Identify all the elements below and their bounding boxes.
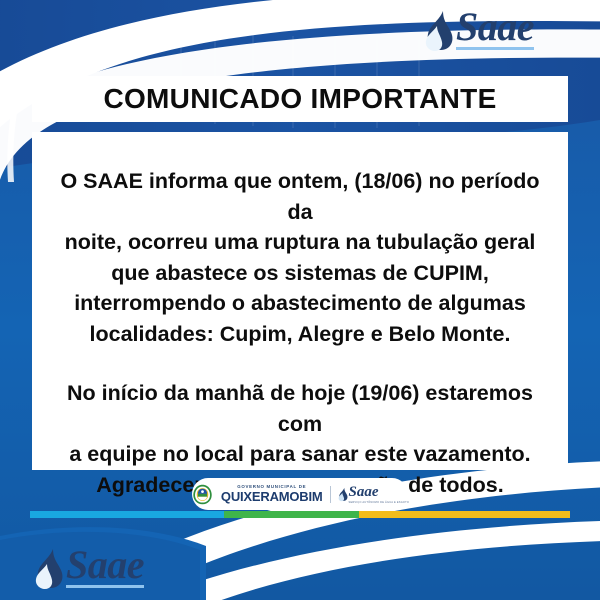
footer-logo-bar: GOVERNO MUNICIPAL DE QUIXERAMOBIM Saae S… [192, 478, 408, 510]
saae-logo-header: Saae [424, 8, 584, 60]
city-name-text: QUIXERAMOBIM [221, 490, 323, 503]
saae-wordmark: Saae [66, 546, 144, 584]
municipal-government-label: GOVERNO MUNICIPAL DE QUIXERAMOBIM [221, 485, 323, 503]
poster-canvas: Saae COMUNICADO IMPORTANTE O SAAE inform… [0, 0, 600, 600]
saae-underline [456, 47, 534, 50]
footer-divider [330, 486, 331, 503]
saae-subtitle: SERVIÇO AUTÔNOMO DE ÁGUA E ESGOTO [349, 501, 410, 504]
saae-underline [66, 585, 144, 588]
saae-wordmark-footer: Saae [349, 485, 410, 500]
water-drop-icon [424, 10, 454, 52]
stripe-segment-gold [359, 511, 570, 518]
announcement-title-bar: COMUNICADO IMPORTANTE [32, 76, 568, 122]
stripe-segment-cyan [30, 511, 224, 518]
tricolor-stripe [30, 511, 570, 518]
saae-logo-footer: Saae SERVIÇO AUTÔNOMO DE ÁGUA E ESGOTO [338, 485, 410, 504]
saae-logo-bottom: Saae [34, 546, 194, 596]
water-drop-icon [338, 487, 348, 502]
announcement-body-card: O SAAE informa que ontem, (18/06) no per… [32, 132, 568, 470]
page-title: COMUNICADO IMPORTANTE [103, 83, 496, 115]
municipal-coat-of-arms-icon [191, 483, 214, 506]
saae-wordmark: Saae [456, 8, 534, 46]
water-drop-icon [34, 548, 64, 590]
announcement-paragraph-1: O SAAE informa que ontem, (18/06) no per… [46, 166, 554, 349]
stripe-segment-green [224, 511, 359, 518]
